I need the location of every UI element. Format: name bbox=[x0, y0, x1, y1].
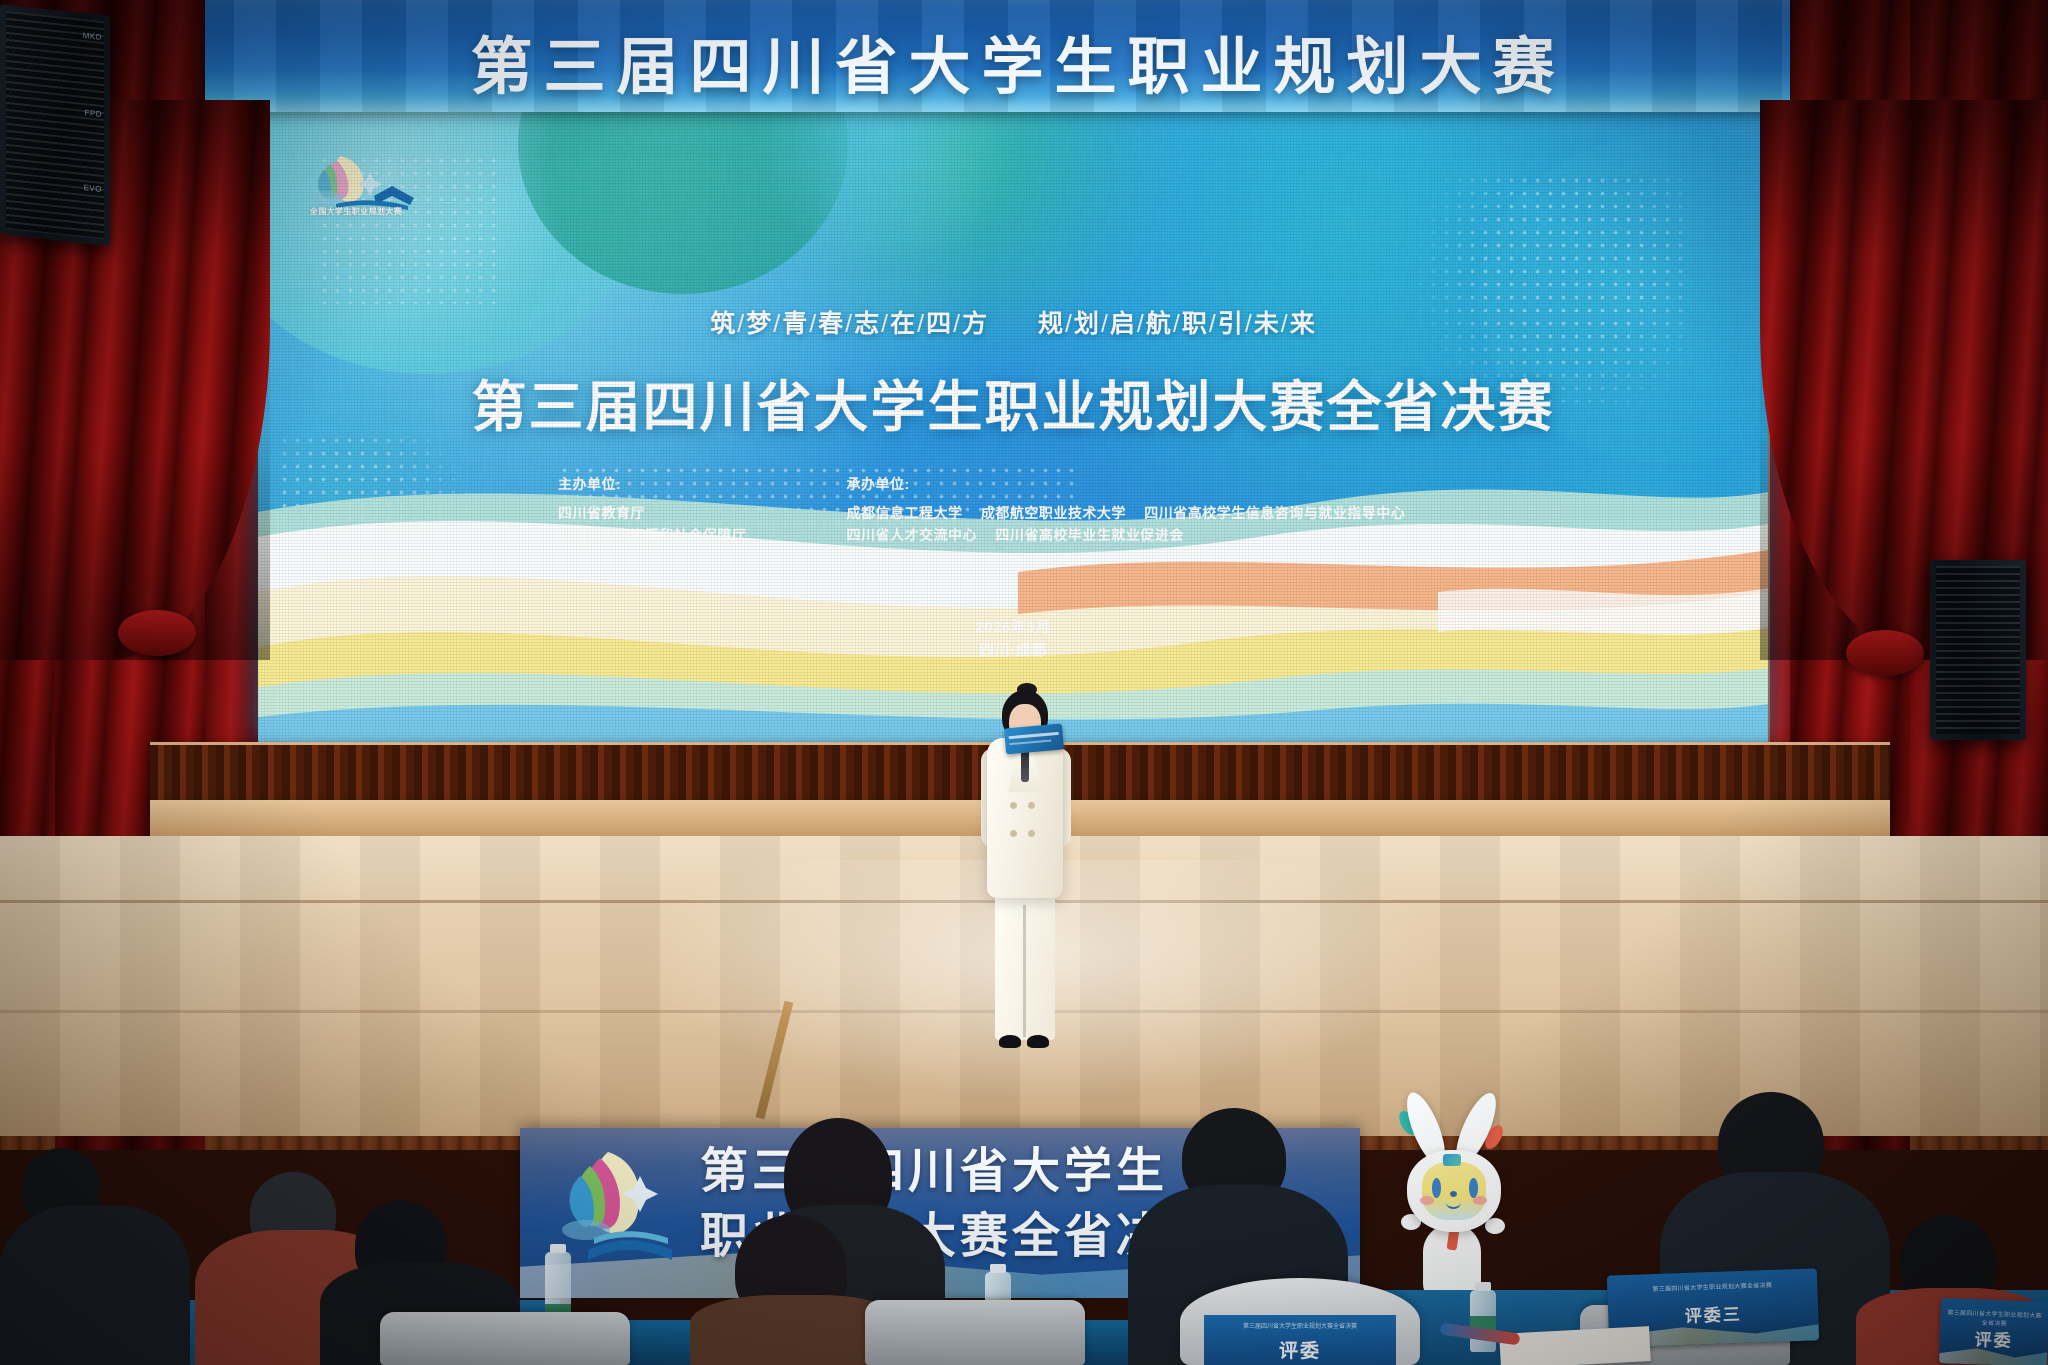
mascot-cheek bbox=[1473, 1196, 1487, 1205]
co-host-organizer-heading: 承办单位: bbox=[847, 474, 1420, 494]
sail-logo-icon bbox=[296, 152, 416, 212]
bottle-cap bbox=[550, 1244, 566, 1253]
co-host-item: 成都航空职业技术大学 bbox=[981, 505, 1126, 521]
led-display-screen: 全国大学生职业规划大赛 筑/梦/青/春/志/在/四/方 规/划/启/航/职/引/… bbox=[258, 104, 1768, 742]
judge-placard-header: 第三届四川省大学生职业规划大赛全省决赛 bbox=[1618, 1279, 1807, 1295]
competition-logo-caption: 全国大学生职业规划大赛 bbox=[296, 206, 416, 217]
speaker-label: FPD bbox=[85, 108, 103, 119]
speaker-label: EVO bbox=[84, 183, 102, 194]
screen-date: 2026年3月 bbox=[258, 617, 1768, 640]
mascot-emblem-icon bbox=[1443, 1154, 1461, 1166]
mascot-arm bbox=[1485, 1218, 1505, 1234]
handheld-microphone bbox=[1021, 748, 1029, 782]
mascot-cheek bbox=[1420, 1196, 1434, 1205]
host-organizer-heading: 主办单位: bbox=[558, 474, 747, 494]
screen-main-title: 第三届四川省大学生职业规划大赛全省决赛 bbox=[258, 362, 1768, 442]
desk-paper bbox=[1499, 1326, 1651, 1365]
co-host-organizer-column: 承办单位: 成都信息工程大学 成都航空职业技术大学 四川省高校学生信息咨询与就业… bbox=[847, 474, 1420, 546]
bottle-cap bbox=[1475, 1282, 1491, 1291]
audience-chair bbox=[865, 1300, 1085, 1365]
venue-top-banner-text: 第三届四川省大学生职业规划大赛 bbox=[148, 16, 1888, 106]
curtain-tieback-left bbox=[118, 610, 196, 656]
screen-slogan: 筑/梦/青/春/志/在/四/方 规/划/启/航/职/引/未/来 bbox=[258, 304, 1768, 340]
slogan-left: 筑/梦/青/春/志/在/四/方 bbox=[710, 310, 988, 338]
co-host-item: 成都信息工程大学 bbox=[847, 505, 963, 521]
slogan-right: 规/划/启/航/职/引/未/来 bbox=[1038, 310, 1316, 338]
chairback-placard-header: 第三届四川省大学生职业规划大赛全省决赛 bbox=[1212, 1321, 1389, 1330]
host-shoe bbox=[999, 1035, 1021, 1048]
host-presenter bbox=[965, 690, 1085, 1090]
judge-name-placard: 第三届四川省大学生职业规划大赛全省决赛 评委 bbox=[1939, 1298, 2048, 1365]
stage-photo: 全国大学生职业规划大赛 筑/梦/青/春/志/在/四/方 规/划/启/航/职/引/… bbox=[0, 0, 2048, 1365]
co-host-organizer-line: 四川省人才交流中心 四川省高校毕业生就业促进会 bbox=[847, 525, 1420, 547]
stage-monitor-speaker-right bbox=[1930, 560, 2026, 740]
curtain-tieback-right bbox=[1846, 630, 1924, 676]
host-jacket-button bbox=[1028, 830, 1035, 837]
co-host-item: 四川省人才交流中心 bbox=[847, 527, 978, 543]
host-organizer-line: 四川省人力资源和社会保障厅 bbox=[558, 525, 747, 547]
mascot-mouth bbox=[1446, 1196, 1461, 1209]
co-host-item: 四川省高校毕业生就业促进会 bbox=[995, 527, 1184, 543]
co-host-item: 四川省高校学生信息咨询与就业指导中心 bbox=[1144, 505, 1405, 521]
screen-location: 四川·成都 bbox=[258, 640, 1768, 663]
host-organizer-line: 四川省教育厅 bbox=[558, 503, 747, 525]
mascot-eye bbox=[1432, 1178, 1441, 1198]
host-cue-card bbox=[1004, 724, 1064, 755]
host-jacket-button bbox=[1028, 802, 1035, 809]
mascot-nose bbox=[1450, 1191, 1457, 1197]
mascot-eye bbox=[1469, 1178, 1478, 1198]
co-host-organizer-line: 成都信息工程大学 成都航空职业技术大学 四川省高校学生信息咨询与就业指导中心 bbox=[847, 503, 1420, 525]
organizer-block: 主办单位: 四川省教育厅 四川省人力资源和社会保障厅 承办单位: 成都信息工程大… bbox=[558, 474, 1419, 546]
audience-person bbox=[0, 1205, 190, 1365]
speaker-label: MKD bbox=[83, 31, 102, 42]
competition-logo: 全国大学生职业规划大赛 bbox=[296, 152, 416, 262]
bottle-cap bbox=[990, 1264, 1006, 1273]
audience-chair bbox=[380, 1312, 630, 1365]
host-trouser-seam bbox=[1023, 905, 1026, 1037]
host-shoe bbox=[1027, 1035, 1049, 1048]
speaker-grille bbox=[1936, 566, 2020, 734]
host-organizer-column: 主办单位: 四川省教育厅 四川省人力资源和社会保障厅 bbox=[558, 474, 747, 546]
line-array-speaker-left: MKD FPD EVO bbox=[0, 4, 110, 246]
judge-placard-name: 评委 bbox=[1939, 1324, 2048, 1353]
rabbit-mascot bbox=[1393, 1092, 1513, 1322]
chairback-placard-card: 第三届四川省大学生职业规划大赛全省决赛 评委 bbox=[1204, 1315, 1396, 1365]
screen-date-location: 2026年3月 四川·成都 bbox=[258, 617, 1768, 662]
venue-top-banner: 第三届四川省大学生职业规划大赛 bbox=[148, 0, 1888, 112]
host-jacket-button bbox=[1010, 802, 1017, 809]
judge-placard-name: 评委三 bbox=[1608, 1297, 1819, 1329]
chairback-placard: 第三届四川省大学生职业规划大赛全省决赛 评委 bbox=[1180, 1278, 1420, 1365]
water-bottle bbox=[1470, 1290, 1496, 1352]
host-jacket-button bbox=[1010, 830, 1017, 837]
chairback-placard-name: 评委 bbox=[1204, 1336, 1396, 1363]
speaker-grille bbox=[6, 11, 104, 239]
